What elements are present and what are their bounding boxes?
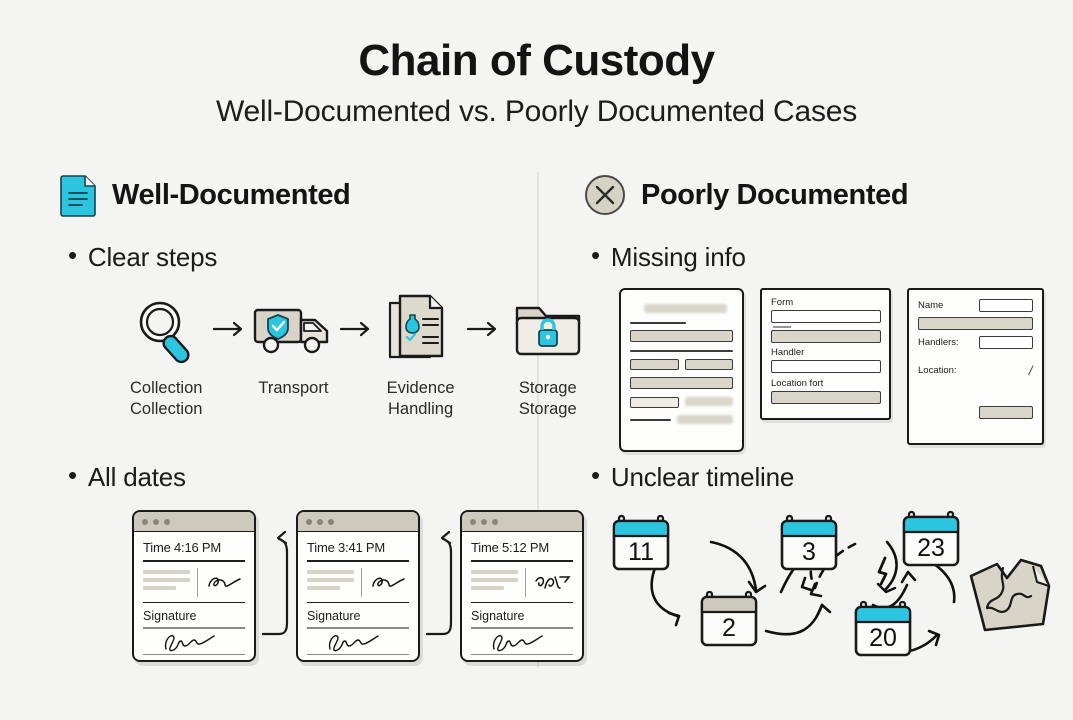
form-input[interactable]: [979, 336, 1033, 349]
truck-shield-icon: [251, 290, 335, 368]
signature-label: Signature: [307, 609, 409, 623]
bullet-dot: •: [68, 242, 77, 268]
page-subtitle: Well-Documented vs. Poorly Documented Ca…: [0, 95, 1073, 129]
form-label-location: Location fort: [771, 378, 881, 389]
redacted-bar: [677, 415, 733, 424]
infographic-canvas: Chain of Custody Well-Documented vs. Poo…: [0, 0, 1073, 720]
form-input[interactable]: [771, 310, 881, 323]
bullet-missing-info-label: Missing info: [611, 242, 746, 273]
text-placeholder-lines: [143, 568, 190, 597]
initials-scribble: [369, 568, 409, 597]
divider-line: [143, 602, 245, 604]
circle-x-icon: [583, 173, 627, 217]
signature-scribble: [307, 629, 409, 653]
form-field: [918, 317, 1033, 330]
svg-text:23: 23: [917, 534, 945, 562]
svg-text:20: 20: [869, 624, 897, 652]
card-arrow-2: [420, 512, 460, 660]
well-documented-column: Well-Documented • Clear steps Collection: [60, 170, 530, 220]
divider-line: [307, 654, 409, 656]
signature-label: Signature: [143, 609, 245, 623]
flow-arrow-2: [338, 290, 377, 368]
poorly-documented-title: Poorly Documented: [641, 179, 908, 212]
signature-scribble: [143, 629, 245, 653]
dot-icon: [153, 519, 159, 525]
folder-lock-icon: [512, 290, 584, 368]
form-field: [630, 330, 733, 342]
form-field: [979, 406, 1033, 419]
bullet-dot: •: [68, 462, 77, 488]
form-input[interactable]: [771, 330, 881, 343]
signature-card: Time 5:12 PM Signature: [460, 510, 584, 662]
step-evidence-handling-label: Evidence Handling: [387, 378, 455, 420]
torn-document-icon: [963, 552, 1057, 643]
calendar-icon: 11: [611, 514, 671, 572]
card-time: Time 5:12 PM: [471, 540, 573, 555]
divider-line: [361, 568, 363, 597]
form-field: [630, 377, 733, 389]
divider-line: [143, 654, 245, 656]
step-storage: Storage Storage: [504, 290, 592, 420]
page-title: Chain of Custody: [0, 36, 1073, 86]
signature-card: Time 4:16 PM Signature: [132, 510, 256, 662]
step-transport-label: Transport: [258, 378, 328, 399]
dot-icon: [470, 519, 476, 525]
bullet-unclear-timeline: • Unclear timeline: [591, 462, 794, 493]
signature-label: Signature: [471, 609, 573, 623]
signature-card: Time 3:41 PM Signature: [296, 510, 420, 662]
well-documented-header: Well-Documented: [60, 170, 530, 220]
bullet-unclear-timeline-label: Unclear timeline: [611, 462, 794, 493]
divider-line: [197, 568, 199, 597]
unclear-timeline-diagram: 11 2 3: [603, 500, 1073, 675]
card-titlebar: [134, 512, 254, 532]
bullet-clear-steps: • Clear steps: [68, 242, 217, 273]
initials-scribble: [205, 568, 245, 597]
bullet-clear-steps-label: Clear steps: [88, 242, 217, 273]
redacted-bar: [644, 304, 727, 313]
dot-icon: [142, 519, 148, 525]
poorly-documented-column: Poorly Documented • Missing info: [583, 170, 1053, 220]
divider-line: [307, 602, 409, 604]
magnifier-icon: [128, 290, 204, 368]
card-time: Time 4:16 PM: [143, 540, 245, 555]
form-field: [630, 397, 679, 408]
form-label-location: Location:: [918, 365, 957, 376]
step-transport: Transport: [249, 290, 337, 399]
bullet-all-dates: • All dates: [68, 462, 186, 493]
calendar-icon: 23: [901, 510, 961, 568]
dot-icon: [164, 519, 170, 525]
step-evidence-handling: Evidence Handling: [376, 290, 464, 420]
bullet-dot: •: [591, 242, 600, 268]
dot-icon: [328, 519, 334, 525]
divider-line: [143, 560, 245, 562]
step-collection-label: Collection Collection: [130, 378, 202, 420]
divider-line: [307, 560, 409, 562]
flow-arrow-1: [210, 290, 249, 368]
document-icon: [60, 173, 98, 217]
bullet-missing-info: • Missing info: [591, 242, 746, 273]
labeled-form-card: Form Handler Location fort: [760, 288, 891, 420]
redacted-bar: [685, 397, 733, 406]
poorly-documented-header: Poorly Documented: [583, 170, 1053, 220]
incomplete-forms-row: Form Handler Location fort Name Handlers…: [619, 288, 1073, 452]
dot-icon: [492, 519, 498, 525]
card-titlebar: [298, 512, 418, 532]
calendar-icon: 20: [853, 600, 913, 658]
signature-card-row: Time 4:16 PM Signature: [132, 510, 602, 662]
form-input[interactable]: [771, 360, 881, 373]
divider-line: [471, 654, 573, 656]
card-arrow-1: [256, 512, 296, 660]
form-line: [630, 419, 671, 421]
divider-line: [471, 602, 573, 604]
evidence-document-icon: [386, 290, 456, 368]
form-line: [630, 322, 686, 324]
card-time: Time 3:41 PM: [307, 540, 409, 555]
process-flow: Collection Collection: [122, 290, 592, 420]
form-input[interactable]: [979, 299, 1033, 312]
bullet-dot: •: [591, 462, 600, 488]
dot-icon: [306, 519, 312, 525]
form-line: [630, 350, 733, 352]
card-titlebar: [462, 512, 582, 532]
dot-icon: [481, 519, 487, 525]
blurred-form-card: [619, 288, 744, 452]
form-label-handler: Handler: [771, 347, 881, 358]
slash-mark: /: [1028, 363, 1035, 378]
dot-icon: [317, 519, 323, 525]
well-documented-title: Well-Documented: [112, 179, 350, 212]
form-label-handlers: Handlers:: [918, 337, 959, 348]
step-collection: Collection Collection: [122, 290, 210, 420]
signature-scribble: [471, 629, 573, 653]
form-field: [630, 359, 679, 370]
text-placeholder-lines: [307, 568, 354, 597]
divider-line: [525, 568, 527, 597]
bullet-all-dates-label: All dates: [88, 462, 186, 493]
form-input[interactable]: [771, 391, 881, 404]
svg-text:11: 11: [628, 538, 654, 566]
svg-text:2: 2: [722, 614, 736, 642]
calendar-icon: 2: [699, 590, 759, 648]
text-placeholder-lines: [471, 568, 518, 597]
divider-line: [471, 560, 573, 562]
form-line: [773, 326, 791, 328]
flow-arrow-3: [465, 290, 504, 368]
form-field: [685, 359, 734, 370]
svg-text:3: 3: [802, 538, 816, 566]
calendar-icon: 3: [779, 514, 839, 572]
form-label-name: Name: [918, 300, 943, 311]
initials-scribble: [533, 568, 573, 597]
step-storage-label: Storage Storage: [519, 378, 577, 420]
fields-form-card: Name Handlers: Location: /: [907, 288, 1044, 445]
form-label-form: Form: [771, 297, 881, 308]
